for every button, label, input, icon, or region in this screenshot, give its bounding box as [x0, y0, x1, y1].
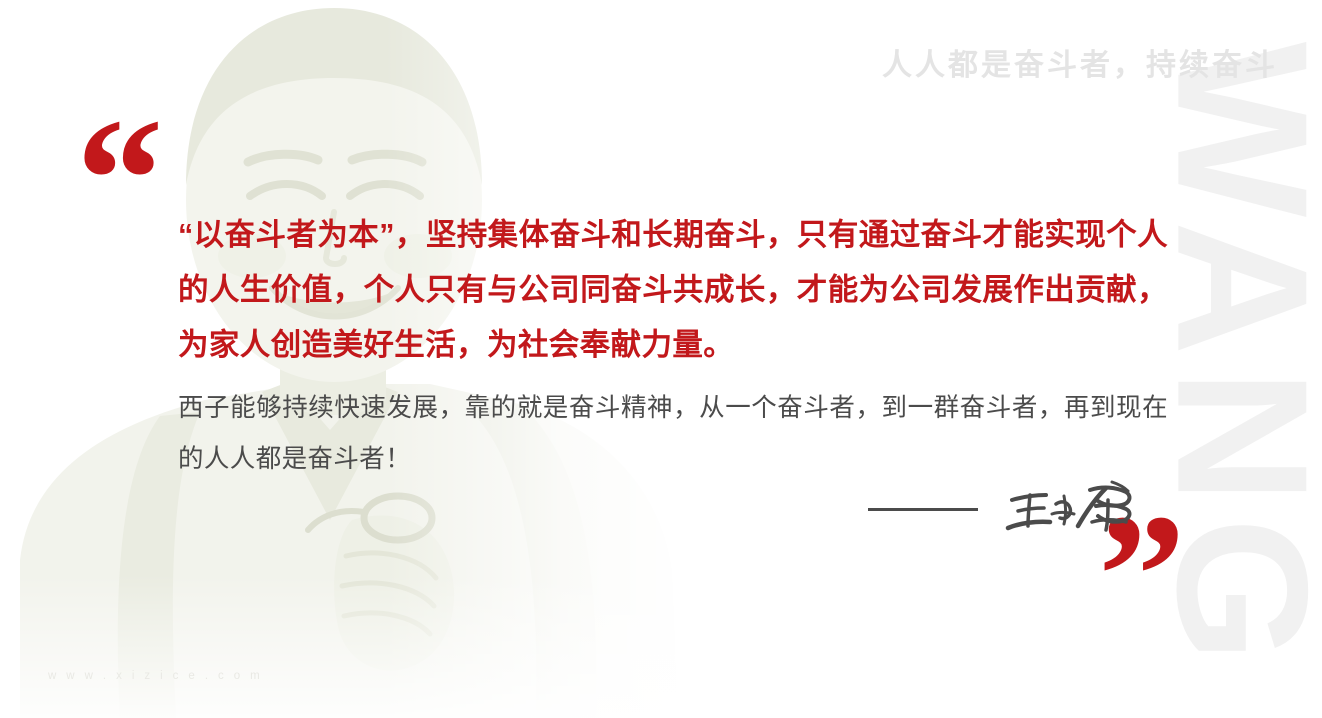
attribution-rule	[868, 508, 978, 511]
quote-body-text: “以奋斗者为本”，坚持集体奋斗和长期奋斗，只有通过奋斗才能实现个人的人生价值，个…	[178, 208, 1168, 373]
attribution	[868, 478, 1136, 540]
slide-canvas: WANG 人人都是奋斗者，持续奋斗 “ “以奋斗者为本”，坚持集体奋斗和长期奋斗…	[0, 0, 1322, 718]
quote-open-mark: “	[76, 92, 164, 267]
site-url: w w w . x i z i c e . c o m	[48, 670, 263, 682]
quote-note-text: 西子能够持续快速发展，靠的就是奋斗精神，从一个奋斗者，到一群奋斗者，再到现在的人…	[178, 383, 1168, 485]
quote-content: “以奋斗者为本”，坚持集体奋斗和长期奋斗，只有通过奋斗才能实现个人的人生价值，个…	[178, 208, 1168, 485]
signature-handwriting	[1004, 478, 1136, 540]
header-slogan: 人人都是奋斗者，持续奋斗	[882, 40, 1278, 84]
